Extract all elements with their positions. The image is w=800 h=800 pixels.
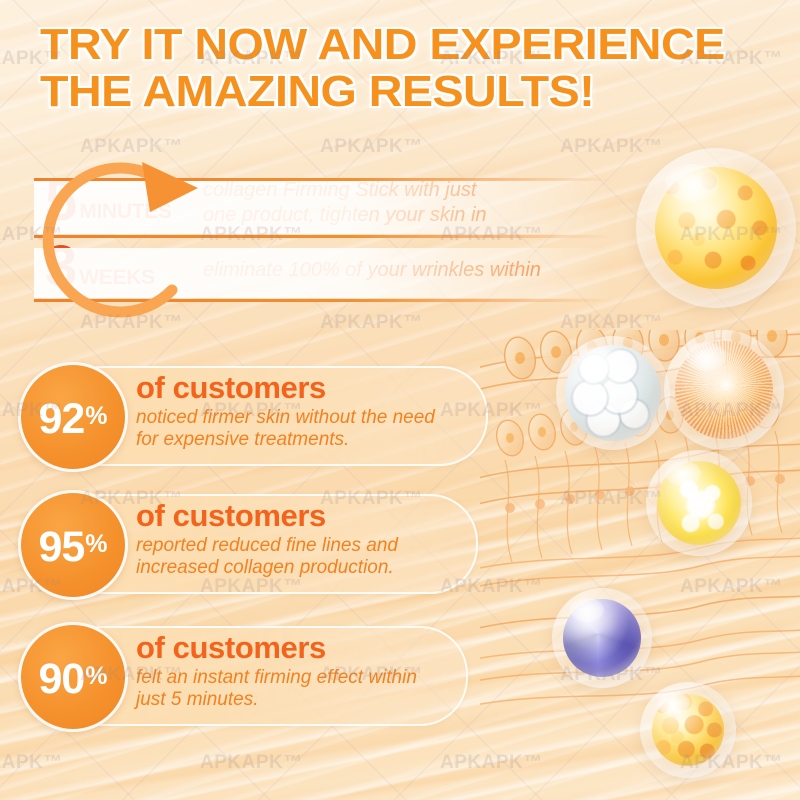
orange-burst-sphere bbox=[664, 330, 784, 450]
honeycomb-sphere-bottom-right bbox=[640, 682, 736, 778]
stat-description: reported reduced fine lines and increase… bbox=[136, 535, 398, 581]
stat-percent-number: 95 bbox=[38, 526, 84, 569]
stat-row: 90 % of customers felt an instant firmin… bbox=[18, 622, 468, 726]
skin-cross-section-illustration bbox=[480, 330, 800, 750]
stat-description: noticed firmer skin without the need for… bbox=[136, 407, 435, 453]
blue-swirl-sphere bbox=[552, 588, 652, 688]
stat-row: 92 % of customers noticed firmer skin wi… bbox=[18, 362, 488, 466]
circular-arrow-icon bbox=[22, 150, 222, 330]
stat-percent-badge: 90 % bbox=[18, 622, 128, 732]
watermark-text: APKAPK™ bbox=[680, 576, 783, 598]
watermark-text: APKAPK™ bbox=[680, 752, 783, 774]
promo-banner: TRY IT NOW AND EXPERIENCE THE AMAZING RE… bbox=[0, 0, 800, 800]
clear-bubble-cluster-sphere bbox=[556, 336, 670, 450]
stat-description: felt an instant firming effect within ju… bbox=[136, 667, 417, 713]
watermark-text: APKAPK™ bbox=[680, 224, 783, 246]
stat-title: of customers bbox=[136, 500, 398, 533]
watermark-text: APKAPK™ bbox=[560, 488, 663, 510]
headline-line-1: TRY IT NOW AND EXPERIENCE bbox=[40, 22, 800, 69]
watermark-text: APKAPK™ bbox=[200, 752, 303, 774]
honeycomb-sphere-top-right bbox=[636, 148, 796, 308]
headline: TRY IT NOW AND EXPERIENCE THE AMAZING RE… bbox=[40, 22, 800, 115]
stat-body: of customers felt an instant firming eff… bbox=[136, 632, 417, 712]
stat-body: of customers noticed firmer skin without… bbox=[136, 372, 435, 452]
stat-row: 95 % of customers reported reduced fine … bbox=[18, 490, 478, 594]
watermark-text: APKAPK™ bbox=[440, 752, 543, 774]
watermark-text: APKAPK™ bbox=[560, 664, 663, 686]
stat-percent-sign: % bbox=[85, 532, 107, 557]
stat-percent-badge: 95 % bbox=[18, 490, 128, 600]
headline-line-2: THE AMAZING RESULTS! bbox=[40, 69, 800, 116]
yellow-molecule-sphere bbox=[646, 450, 752, 556]
stat-title: of customers bbox=[136, 372, 435, 405]
watermark-text: APKAPK™ bbox=[0, 752, 63, 774]
time-claims-block bbox=[22, 150, 612, 330]
stat-percent-badge: 92 % bbox=[18, 362, 128, 472]
stat-percent-number: 92 bbox=[38, 398, 84, 441]
stat-percent-sign: % bbox=[85, 664, 107, 689]
stat-body: of customers reported reduced fine lines… bbox=[136, 500, 398, 580]
stat-percent-number: 90 bbox=[38, 658, 84, 701]
stat-percent-sign: % bbox=[85, 404, 107, 429]
stat-title: of customers bbox=[136, 632, 417, 665]
watermark-text: APKAPK™ bbox=[680, 400, 783, 422]
